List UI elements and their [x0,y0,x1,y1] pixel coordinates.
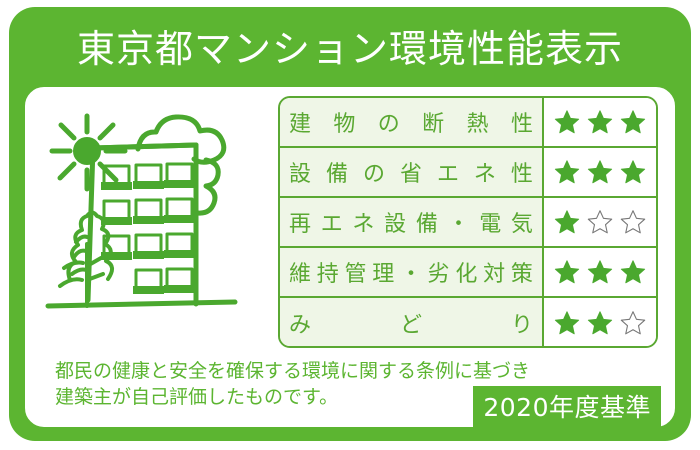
star-empty-icon [620,310,646,336]
table-row: 建 物 の 断 熱 性 [280,98,656,148]
table-row: み ど り [280,298,656,348]
table-row: 維 持 管 理 ・ 劣 化 対 策 [280,248,656,298]
rating-table: 建 物 の 断 熱 性 設 備 の 省 エ ネ 性 再 [278,96,658,348]
table-row: 再 エ ネ 設 備 ・ 電 気 [280,198,656,248]
rating-stars-insulation [544,98,656,146]
footer-line-1: 都民の健康と安全を確保する環境に関する条例に基づき [55,358,655,384]
rating-stars-maintenance [544,248,656,296]
star-filled-icon [620,109,646,135]
star-filled-icon [587,109,613,135]
sun-icon [52,116,125,189]
rating-stars-renewable-energy [544,198,656,246]
star-filled-icon [587,310,613,336]
star-filled-icon [554,310,580,336]
star-filled-icon [554,159,580,185]
rating-stars-energy-saving [544,148,656,196]
eco-apartment-illustration [30,94,270,350]
footer: 都民の健康と安全を確保する環境に関する条例に基づき 建築主が自己評価したものです… [55,358,655,426]
star-empty-icon [620,209,646,235]
rating-stars-greenery [544,298,656,348]
mansion-environmental-performance-label: 東京都マンション環境性能表示 [0,0,700,450]
status-badge: 2020年度基準 [473,386,661,428]
star-filled-icon [587,259,613,285]
star-filled-icon [620,259,646,285]
star-filled-icon [620,159,646,185]
star-filled-icon [554,259,580,285]
star-empty-icon [587,209,613,235]
rating-label-greenery: み ど り [280,298,544,348]
ground-line [48,302,235,306]
rating-label-maintenance: 維 持 管 理 ・ 劣 化 対 策 [280,248,544,296]
rating-label-renewable-energy: 再 エ ネ 設 備 ・ 電 気 [280,198,544,246]
rating-label-insulation: 建 物 の 断 熱 性 [280,98,544,146]
page-title: 東京都マンション環境性能表示 [9,14,691,76]
rating-label-energy-saving: 設 備 の 省 エ ネ 性 [280,148,544,196]
table-row: 設 備 の 省 エ ネ 性 [280,148,656,198]
star-filled-icon [554,109,580,135]
star-filled-icon [587,159,613,185]
star-filled-icon [554,209,580,235]
